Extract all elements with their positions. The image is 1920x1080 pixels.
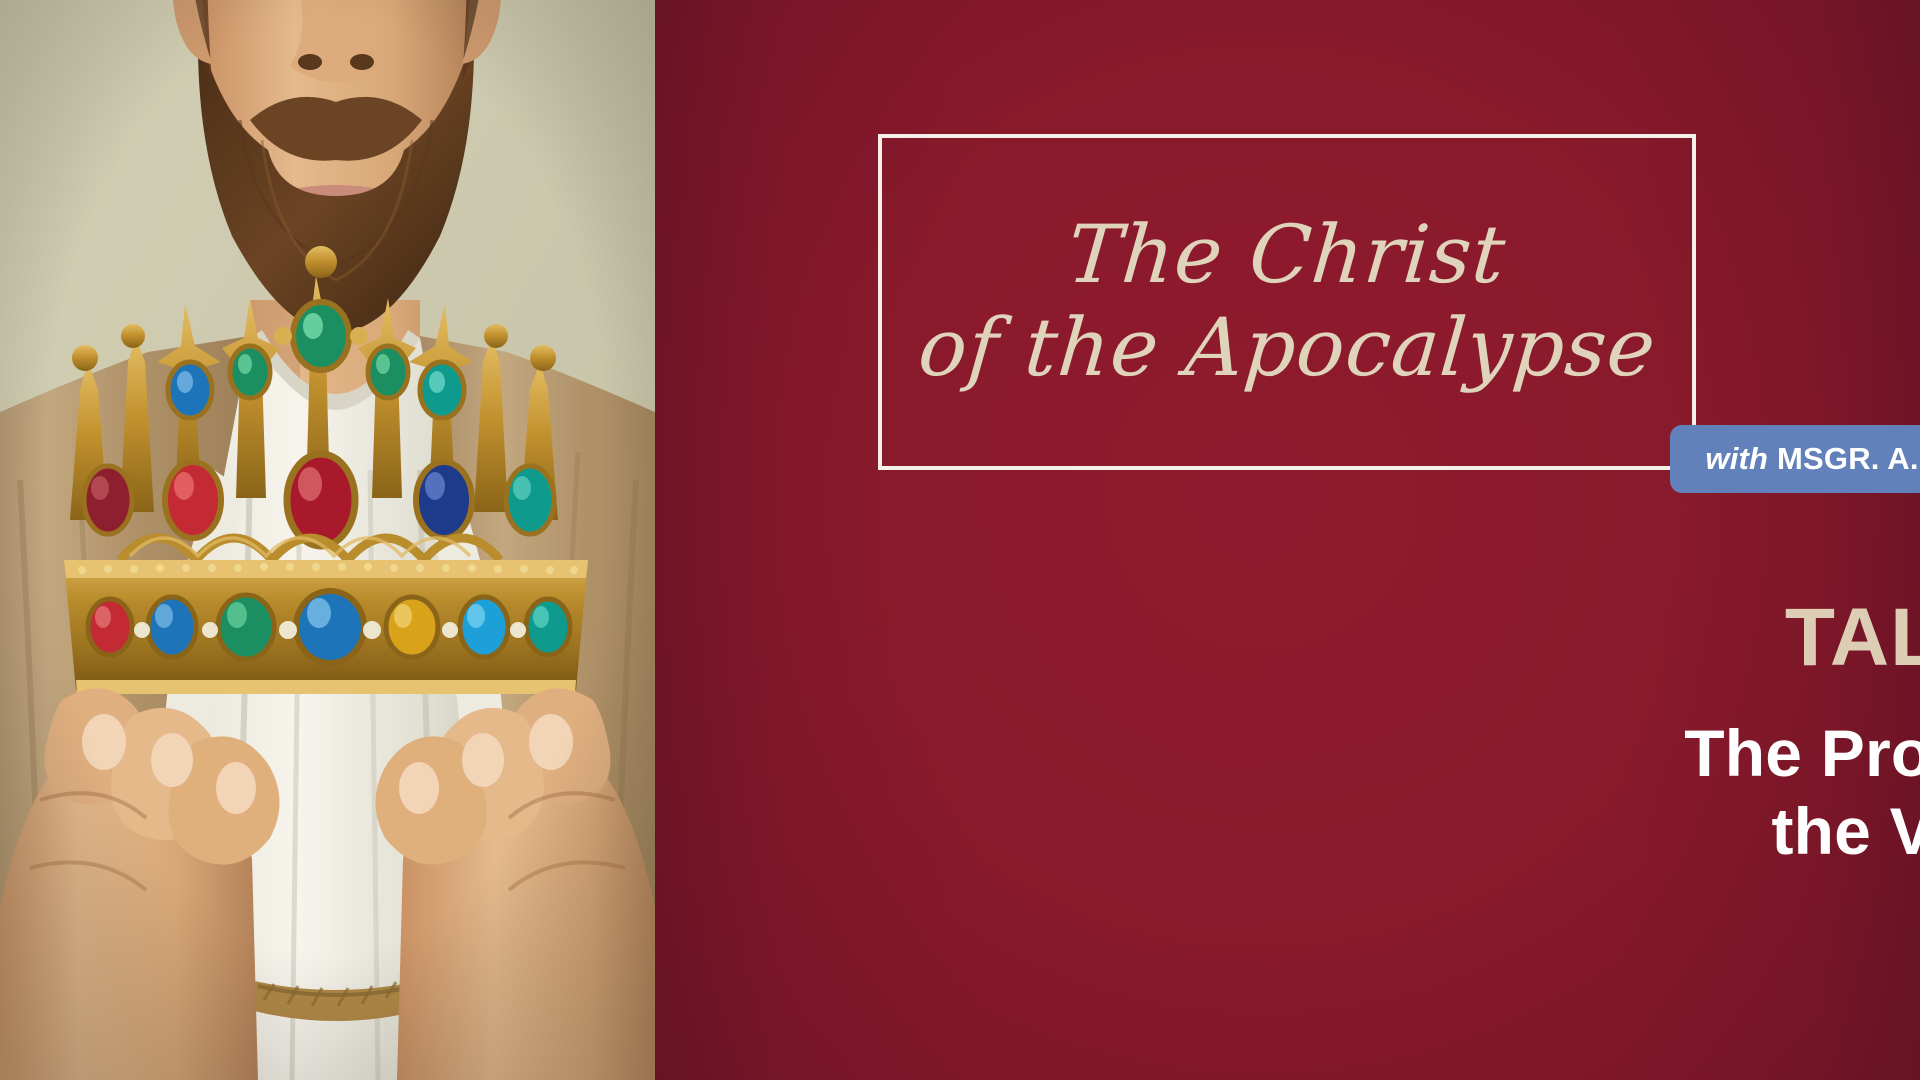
talk-subtitle-line-1: The Promises to xyxy=(1310,715,1920,793)
talk-number: TALK 8: xyxy=(1310,595,1920,681)
speaker-prefix: with xyxy=(1705,441,1768,476)
content-panel: The Christ of the Apocalypse with MSGR. … xyxy=(655,0,1920,1080)
talk-subtitle-line-2: the Victors xyxy=(1310,793,1920,871)
presentation-slide: The Christ of the Apocalypse with MSGR. … xyxy=(0,0,1920,1080)
talk-block: TALK 8: The Promises to the Victors xyxy=(1310,595,1920,871)
speaker-badge: with MSGR. A. ROBERT NUSCA xyxy=(1670,425,1920,493)
speaker-label: with MSGR. A. ROBERT NUSCA xyxy=(1705,441,1920,477)
christ-holding-crown-illustration xyxy=(0,0,655,1080)
speaker-name: MSGR. A. ROBERT NUSCA xyxy=(1777,441,1920,476)
talk-subtitle: The Promises to the Victors xyxy=(1310,715,1920,871)
artwork-panel xyxy=(0,0,655,1080)
title-frame-border xyxy=(878,134,1696,470)
artwork-vignette xyxy=(0,0,655,1080)
